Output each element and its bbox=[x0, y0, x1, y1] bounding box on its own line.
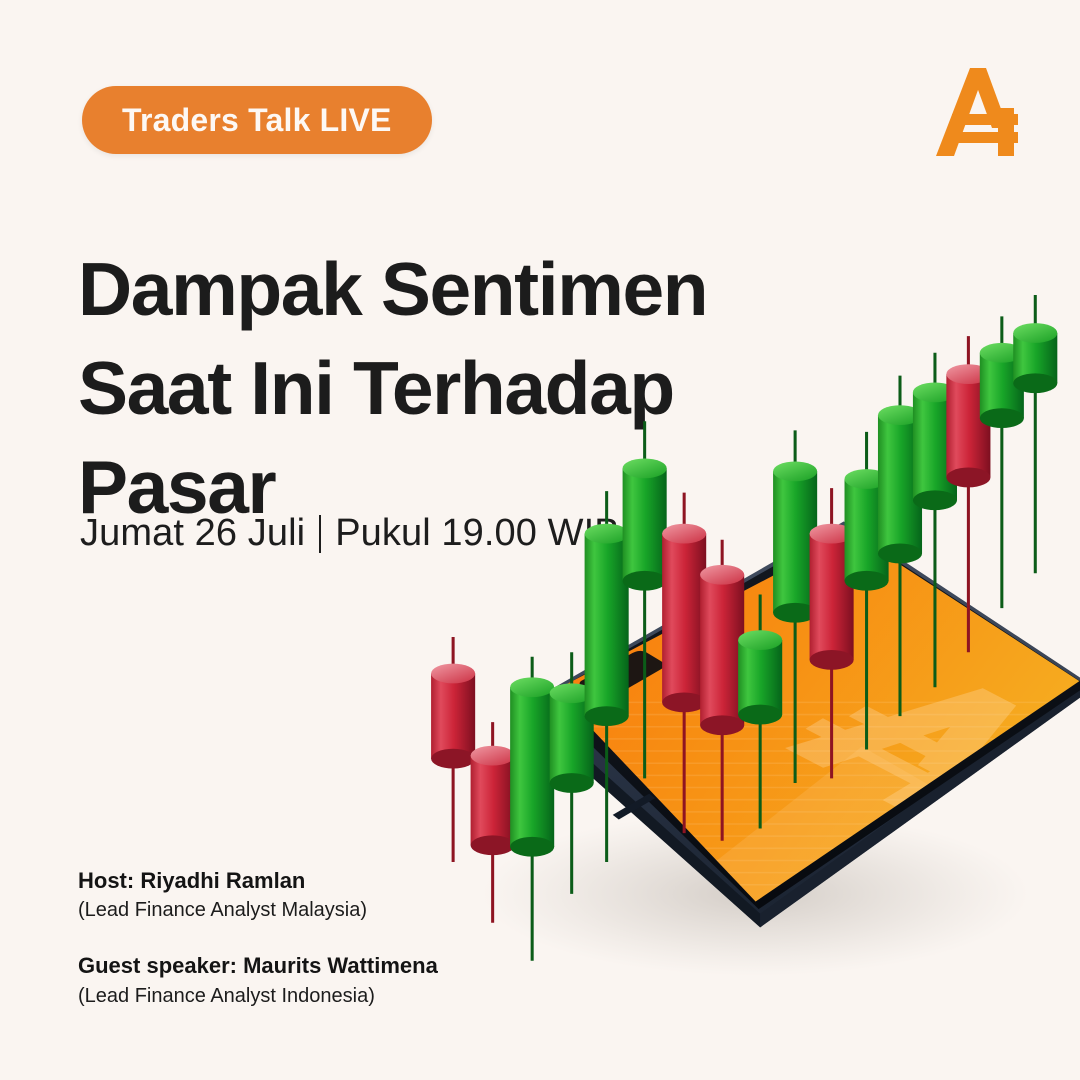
candle-down bbox=[431, 637, 475, 862]
candle-up bbox=[585, 491, 629, 862]
candlestick-phone-illustration bbox=[330, 330, 1080, 1080]
schedule-separator bbox=[319, 515, 321, 553]
live-badge: Traders Talk LIVE bbox=[82, 86, 432, 154]
credit-host-name: Host: Riyadhi Ramlan bbox=[78, 866, 438, 896]
live-badge-label: Traders Talk LIVE bbox=[122, 102, 392, 139]
credit-guest-role: (Lead Finance Analyst Indonesia) bbox=[78, 982, 438, 1011]
candle-up bbox=[1013, 295, 1057, 573]
poster-canvas: Traders Talk LIVE Dampak Sentimen Saat I… bbox=[0, 0, 1080, 1080]
credit-guest: Guest speaker: Maurits Wattimena (Lead F… bbox=[78, 951, 438, 1010]
credits-block: Host: Riyadhi Ramlan (Lead Finance Analy… bbox=[78, 866, 438, 1011]
credit-host-role: (Lead Finance Analyst Malaysia) bbox=[78, 896, 438, 925]
credit-guest-name: Guest speaker: Maurits Wattimena bbox=[78, 951, 438, 981]
credit-host: Host: Riyadhi Ramlan (Lead Finance Analy… bbox=[78, 866, 438, 925]
brand-logo-icon bbox=[930, 64, 1030, 160]
schedule-date: Jumat 26 Juli bbox=[80, 512, 305, 555]
headline-line-1: Dampak Sentimen bbox=[78, 240, 798, 339]
